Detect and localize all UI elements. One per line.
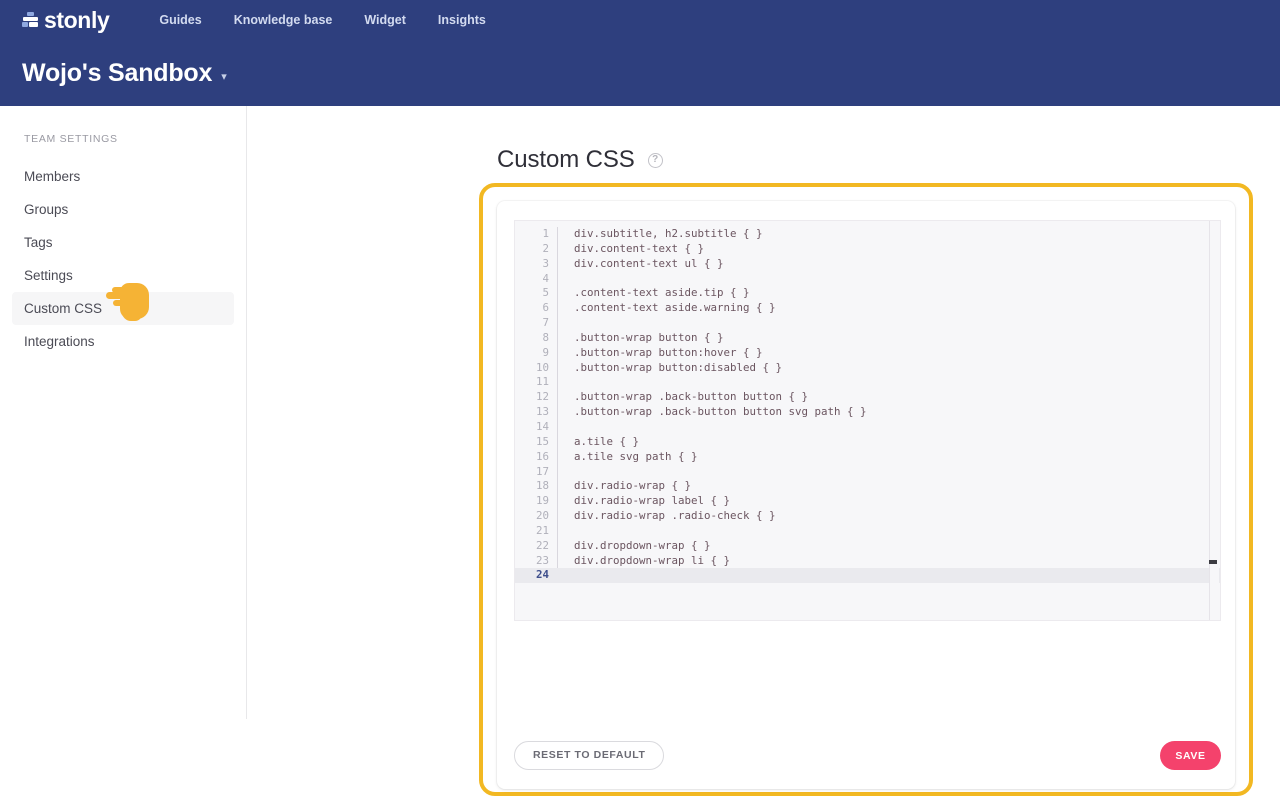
code-text: div.radio-wrap label { } bbox=[558, 494, 730, 509]
code-line: 19div.radio-wrap label { } bbox=[515, 494, 1220, 509]
code-line: 14 bbox=[515, 420, 1220, 435]
code-text: a.tile { } bbox=[558, 435, 639, 450]
custom-css-editor-card: 1div.subtitle, h2.subtitle { } 2div.cont… bbox=[497, 201, 1235, 789]
line-number: 20 bbox=[515, 509, 557, 524]
code-line: 18div.radio-wrap { } bbox=[515, 479, 1220, 494]
settings-sidebar: TEAM SETTINGS Members Groups Tags Settin… bbox=[0, 106, 247, 719]
code-line: 8.button-wrap button { } bbox=[515, 331, 1220, 346]
question-mark-circle-icon[interactable]: ? bbox=[648, 153, 663, 168]
line-number: 16 bbox=[515, 450, 557, 465]
gutter-separator bbox=[557, 420, 558, 435]
sidebar-item-members[interactable]: Members bbox=[12, 160, 234, 193]
brand-name: stonly bbox=[44, 9, 109, 32]
line-number: 1 bbox=[515, 227, 557, 242]
line-number: 14 bbox=[515, 420, 557, 435]
code-line: 11 bbox=[515, 375, 1220, 390]
gutter-separator bbox=[557, 524, 558, 539]
sidebar-item-label: Custom CSS bbox=[24, 301, 102, 316]
code-line: 17 bbox=[515, 465, 1220, 480]
top-header-bar: stonly Guides Knowledge base Widget Insi… bbox=[0, 0, 1280, 106]
code-line-active: 24 bbox=[515, 568, 1220, 583]
code-line: 10.button-wrap button:disabled { } bbox=[515, 361, 1220, 376]
code-text: div.radio-wrap .radio-check { } bbox=[558, 509, 776, 524]
nav-item-guides[interactable]: Guides bbox=[143, 0, 217, 40]
page-title-row: Custom CSS ? bbox=[497, 146, 663, 174]
gutter-separator bbox=[557, 465, 558, 480]
code-text: div.subtitle, h2.subtitle { } bbox=[558, 227, 763, 242]
line-number: 13 bbox=[515, 405, 557, 420]
code-line: 20div.radio-wrap .radio-check { } bbox=[515, 509, 1220, 524]
sidebar-item-label: Integrations bbox=[24, 334, 95, 349]
code-line: 3div.content-text ul { } bbox=[515, 257, 1220, 272]
line-number: 6 bbox=[515, 301, 557, 316]
sidebar-heading: TEAM SETTINGS bbox=[24, 133, 118, 145]
sidebar-item-integrations[interactable]: Integrations bbox=[12, 325, 234, 358]
code-text: .button-wrap .back-button button { } bbox=[558, 390, 808, 405]
gutter-separator bbox=[557, 316, 558, 331]
main-content: Custom CSS ? 1div.subtitle, h2.subtitle … bbox=[247, 106, 1280, 719]
code-lines: 1div.subtitle, h2.subtitle { } 2div.cont… bbox=[515, 227, 1220, 583]
brand-logo[interactable]: stonly bbox=[22, 0, 109, 40]
line-number: 10 bbox=[515, 361, 557, 376]
gutter-separator bbox=[557, 272, 558, 287]
workspace-selector[interactable]: Wojo's Sandbox ▾ bbox=[0, 40, 227, 106]
code-text: div.radio-wrap { } bbox=[558, 479, 691, 494]
code-text: div.content-text { } bbox=[558, 242, 704, 257]
code-text: div.dropdown-wrap li { } bbox=[558, 554, 730, 569]
sidebar-item-label: Members bbox=[24, 169, 80, 184]
line-number: 2 bbox=[515, 242, 557, 257]
line-number: 12 bbox=[515, 390, 557, 405]
line-number: 19 bbox=[515, 494, 557, 509]
line-number: 21 bbox=[515, 524, 557, 539]
nav-links: Guides Knowledge base Widget Insights bbox=[143, 0, 501, 40]
line-number: 9 bbox=[515, 346, 557, 361]
sidebar-item-label: Settings bbox=[24, 268, 73, 283]
editor-scrollbar-thumb[interactable] bbox=[1209, 560, 1217, 564]
editor-scrollbar[interactable] bbox=[1209, 221, 1219, 620]
nav-item-insights[interactable]: Insights bbox=[422, 0, 502, 40]
code-line: 23div.dropdown-wrap li { } bbox=[515, 554, 1220, 569]
workspace-title: Wojo's Sandbox bbox=[22, 59, 212, 88]
sidebar-item-list: Members Groups Tags Settings Custom CSS … bbox=[0, 160, 246, 358]
stonly-stacked-logo-icon bbox=[22, 12, 39, 29]
code-text: .button-wrap .back-button button svg pat… bbox=[558, 405, 867, 420]
line-number: 18 bbox=[515, 479, 557, 494]
gutter-separator bbox=[557, 375, 558, 390]
sidebar-item-label: Tags bbox=[24, 235, 53, 250]
sidebar-item-groups[interactable]: Groups bbox=[12, 193, 234, 226]
line-number: 17 bbox=[515, 465, 557, 480]
save-button[interactable]: SAVE bbox=[1160, 741, 1221, 770]
code-line: 13.button-wrap .back-button button svg p… bbox=[515, 405, 1220, 420]
code-line: 6.content-text aside.warning { } bbox=[515, 301, 1220, 316]
nav-item-widget[interactable]: Widget bbox=[348, 0, 422, 40]
code-line: 12.button-wrap .back-button button { } bbox=[515, 390, 1220, 405]
code-line: 4 bbox=[515, 272, 1220, 287]
nav-item-knowledge-base[interactable]: Knowledge base bbox=[218, 0, 349, 40]
css-code-editor[interactable]: 1div.subtitle, h2.subtitle { } 2div.cont… bbox=[514, 220, 1221, 621]
code-text: .button-wrap button:hover { } bbox=[558, 346, 763, 361]
code-line: 5.content-text aside.tip { } bbox=[515, 286, 1220, 301]
code-line: 1div.subtitle, h2.subtitle { } bbox=[515, 227, 1220, 242]
line-number: 15 bbox=[515, 435, 557, 450]
code-text: .content-text aside.tip { } bbox=[558, 286, 750, 301]
code-line: 9.button-wrap button:hover { } bbox=[515, 346, 1220, 361]
line-number: 22 bbox=[515, 539, 557, 554]
code-line: 7 bbox=[515, 316, 1220, 331]
code-line: 15a.tile { } bbox=[515, 435, 1220, 450]
line-number: 11 bbox=[515, 375, 557, 390]
gutter-separator bbox=[557, 568, 558, 583]
chevron-down-icon[interactable]: ▾ bbox=[221, 70, 227, 83]
line-number: 23 bbox=[515, 554, 557, 569]
line-number: 4 bbox=[515, 272, 557, 287]
code-text: div.content-text ul { } bbox=[558, 257, 724, 272]
sidebar-item-tags[interactable]: Tags bbox=[12, 226, 234, 259]
line-number: 5 bbox=[515, 286, 557, 301]
code-line: 22div.dropdown-wrap { } bbox=[515, 539, 1220, 554]
code-text: .content-text aside.warning { } bbox=[558, 301, 776, 316]
primary-nav-row: stonly Guides Knowledge base Widget Insi… bbox=[0, 0, 1280, 40]
sidebar-item-label: Groups bbox=[24, 202, 68, 217]
code-line: 2div.content-text { } bbox=[515, 242, 1220, 257]
code-text: .button-wrap button { } bbox=[558, 331, 724, 346]
code-text: .button-wrap button:disabled { } bbox=[558, 361, 782, 376]
editor-actions: RESET TO DEFAULT SAVE bbox=[514, 741, 1221, 770]
code-line: 21 bbox=[515, 524, 1220, 539]
code-text: a.tile svg path { } bbox=[558, 450, 698, 465]
sidebar-item-settings[interactable]: Settings bbox=[12, 259, 234, 292]
line-number: 7 bbox=[515, 316, 557, 331]
sidebar-item-custom-css[interactable]: Custom CSS bbox=[12, 292, 234, 325]
code-line: 16a.tile svg path { } bbox=[515, 450, 1220, 465]
reset-to-default-button[interactable]: RESET TO DEFAULT bbox=[514, 741, 664, 770]
line-number: 24 bbox=[515, 568, 557, 583]
code-text: div.dropdown-wrap { } bbox=[558, 539, 711, 554]
page-title: Custom CSS bbox=[497, 146, 635, 174]
line-number: 3 bbox=[515, 257, 557, 272]
line-number: 8 bbox=[515, 331, 557, 346]
